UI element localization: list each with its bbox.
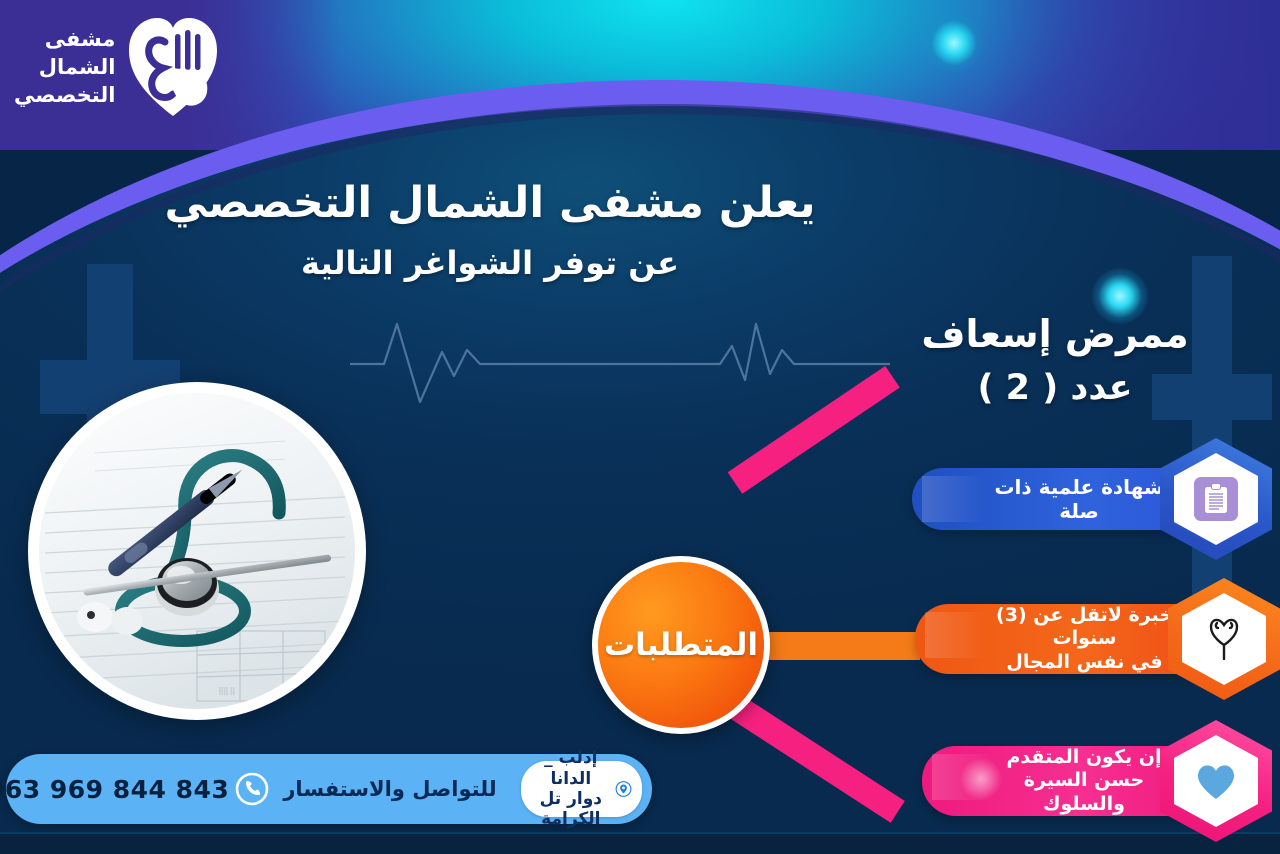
pill-glow (958, 756, 1004, 802)
location-line-1: إدلب _ الدانا (535, 748, 607, 789)
clipboard-glyph (1203, 483, 1229, 515)
requirement-1-hexagon (1160, 438, 1272, 560)
ecg-heartbeat-line (350, 318, 890, 410)
location-line-2: دوار تل الكرامة (535, 789, 607, 830)
requirement-row-1: شهادة علمية ذات صلة (912, 438, 1272, 560)
requirement-3-text: إن يكون المتقدم حسن السيرة والسلوك (982, 746, 1186, 816)
brand-line-1: مشفى (14, 26, 115, 54)
contact-footer-bar: إدلب _ الدانا دوار تل الكرامة للتواصل وا… (6, 754, 652, 824)
photo-inner: ||||||| || |||| (39, 393, 355, 709)
requirement-3-line-2: حسن السيرة والسلوك (1024, 769, 1145, 814)
requirement-2-hexagon-inner (1182, 593, 1266, 685)
cyan-glow-dot-top (925, 14, 983, 72)
brand-logo: مشفى الشمال التخصصي (14, 12, 221, 120)
vacancy-title-block: ممرض إسعاف عدد ( 2 ) (860, 312, 1250, 408)
stethoscope-photo: ||||||| || |||| (28, 382, 366, 720)
requirement-2-hexagon (1168, 578, 1280, 700)
stethoscope-heart-icon (1201, 613, 1247, 665)
phone-block[interactable]: +963 969 844 843 (0, 772, 269, 806)
location-pin-icon (615, 774, 632, 804)
heart-icon (1193, 760, 1239, 802)
brand-name: مشفى الشمال التخصصي (14, 22, 115, 110)
clipboard-document-icon (1194, 477, 1238, 521)
vacancy-title: ممرض إسعاف (860, 312, 1250, 356)
phone-number[interactable]: +963 969 844 843 (0, 775, 229, 804)
requirement-2-text: خبرة لاتقل عن (3) سنوات في نفس المجال (975, 604, 1194, 674)
heart-hand-logo-icon (125, 12, 221, 120)
headline: يعلن مشفى الشمال التخصصي عن توفر الشواغر… (0, 178, 980, 282)
headline-line-2: عن توفر الشواغر التالية (0, 244, 980, 282)
contact-label: للتواصل والاستفسار (283, 777, 496, 801)
requirements-center-label: المتطلبات (604, 627, 758, 663)
brand-line-3: التخصصي (14, 82, 115, 110)
vacancy-count: عدد ( 2 ) (860, 368, 1250, 408)
svg-text:|| ||||: || |||| (219, 687, 235, 695)
poster-canvas: مشفى الشمال التخصصي يعلن مشفى الشمال الت… (0, 0, 1280, 854)
requirement-2-line-2: في نفس المجال (1006, 651, 1162, 673)
requirement-3-line-1: إن يكون المتقدم (1007, 746, 1162, 768)
phone-icon[interactable] (235, 772, 269, 806)
stethoscope-on-chart-illustration: ||||||| || |||| (39, 393, 355, 709)
location-pill: إدلب _ الدانا دوار تل الكرامة (521, 761, 642, 817)
requirement-3-hexagon-inner (1174, 735, 1258, 827)
requirement-1-hexagon-inner (1174, 453, 1258, 545)
requirement-row-3: إن يكون المتقدم حسن السيرة والسلوك (922, 720, 1272, 842)
requirement-1-text: شهادة علمية ذات صلة (972, 475, 1186, 524)
headline-line-1: يعلن مشفى الشمال التخصصي (0, 178, 980, 228)
requirements-center-node: المتطلبات (592, 556, 770, 734)
requirement-2-line-1: خبرة لاتقل عن (3) سنوات (996, 604, 1173, 649)
location-text: إدلب _ الدانا دوار تل الكرامة (535, 748, 607, 830)
requirement-row-2: خبرة لاتقل عن (3) سنوات في نفس المجال (915, 578, 1280, 700)
brand-line-2: الشمال (14, 54, 115, 82)
requirement-3-hexagon (1160, 720, 1272, 842)
